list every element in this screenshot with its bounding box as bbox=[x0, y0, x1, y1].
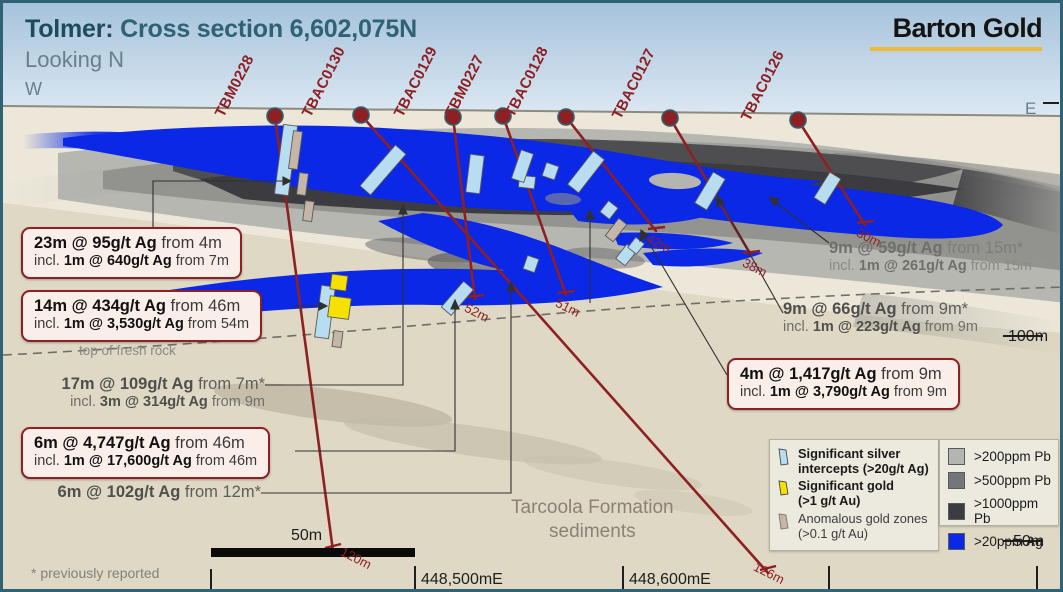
legend-swatch-1000ppm-pb: >1000ppm Pb bbox=[948, 496, 1052, 526]
hole-label-0: TBM0228 bbox=[227, 103, 294, 120]
legend-swatch-20ppm-ag: >20ppm Ag bbox=[948, 533, 1052, 550]
legend-silver-line1: Significant silver bbox=[798, 446, 900, 461]
formation-label: Tarcoola Formation sediments bbox=[511, 496, 674, 545]
top-of-fresh-rock-label: top of fresh rock bbox=[79, 343, 176, 358]
annotation-9m-66gt: 9m @ 66g/t Ag from 9m* incl. 1m @ 223g/t… bbox=[783, 300, 978, 337]
easting-label-right: 448,600mE bbox=[629, 571, 711, 589]
depth-label-120m: 120m bbox=[345, 544, 378, 559]
legend-anomalous-line2: (>0.1 g/t Au) bbox=[798, 526, 868, 541]
depth-label-42m: 42m bbox=[651, 231, 676, 246]
annotation-14m-434gt: 14m @ 434g/t Ag from 46m incl. 1m @ 3,53… bbox=[21, 290, 262, 342]
legend-symbols: Significant silver intercepts (>20g/t Ag… bbox=[769, 439, 939, 551]
annotation-9m-59gt: 9m @ 59g/t Ag from 15m* incl. 1m @ 261g/… bbox=[829, 239, 1032, 276]
annotation-4m-1417gt: 4m @ 1,417g/t Ag from 9m incl. 1m @ 3,79… bbox=[727, 358, 960, 410]
logo-underline bbox=[870, 47, 1042, 51]
legend-item-anomalous: Anomalous gold zones (>0.1 g/t Au) bbox=[777, 512, 932, 541]
legend-swatches: >200ppm Pb >500ppm Pb >1000ppm Pb >20ppm… bbox=[939, 439, 1059, 526]
hole-label-5: TBAC0127 bbox=[624, 105, 701, 122]
swatch-200ppm-pb-icon bbox=[948, 448, 965, 465]
annotation-headline: 14m @ 434g/t Ag bbox=[34, 297, 166, 315]
cross-section-figure: Tolmer: Cross section 6,602,075N Looking… bbox=[0, 0, 1063, 592]
annotation-6m-102gt: 6m @ 102g/t Ag from 12m* bbox=[23, 483, 261, 502]
hole-label-6: TBAC0126 bbox=[753, 107, 830, 124]
anomalous-gold-icon bbox=[777, 513, 794, 536]
swatch-1000ppm-pb-icon bbox=[948, 503, 965, 520]
legend-gold-line1: Significant gold bbox=[798, 478, 894, 493]
view-direction-subtitle: Looking N bbox=[25, 47, 124, 73]
legend-gold-line2: (>1 g/t Au) bbox=[798, 493, 860, 508]
scale-bar bbox=[211, 548, 415, 557]
easting-label-left: 448,500mE bbox=[421, 571, 503, 589]
company-logo: Barton Gold bbox=[893, 13, 1042, 44]
depth-label-51m: 51m bbox=[560, 295, 585, 310]
annotation-6m-4747gt: 6m @ 4,747g/t Ag from 46m incl. 1m @ 17,… bbox=[21, 427, 270, 479]
annotation-headline: 23m @ 95g/t Ag bbox=[34, 234, 157, 252]
elevation-100m-label: 100m bbox=[1008, 328, 1048, 346]
title-rest: Cross section 6,602,075N bbox=[113, 15, 417, 43]
hole-label-1: TBAC0130 bbox=[314, 103, 391, 120]
legend-swatch-500ppm-pb: >500ppm Pb bbox=[948, 472, 1052, 489]
depth-label-30m: 30m bbox=[861, 225, 886, 240]
legend-anomalous-line1: Anomalous gold zones bbox=[798, 511, 927, 526]
silver-intercept-icon bbox=[777, 448, 794, 471]
page-title: Tolmer: Cross section 6,602,075N bbox=[25, 15, 417, 44]
scale-bar-label: 50m bbox=[291, 527, 322, 545]
depth-label-126m: 126m bbox=[758, 559, 791, 574]
title-brand: Tolmer: bbox=[25, 15, 113, 43]
swatch-20ppm-ag-icon bbox=[948, 533, 965, 550]
footnote: * previously reported bbox=[31, 565, 159, 581]
annotation-17m-109gt: 17m @ 109g/t Ag from 7m* incl. 3m @ 314g… bbox=[23, 375, 265, 412]
annotation-23m-95gt: 23m @ 95g/t Ag from 4m incl. 1m @ 640g/t… bbox=[21, 227, 242, 279]
swatch-500ppm-pb-icon bbox=[948, 472, 965, 489]
hole-label-4: TBAC0128 bbox=[517, 103, 594, 120]
depth-label-52m: 52m bbox=[469, 300, 494, 315]
legend-swatch-200ppm-pb: >200ppm Pb bbox=[948, 448, 1052, 465]
west-label: W bbox=[25, 79, 42, 100]
east-label: E bbox=[1025, 99, 1036, 119]
depth-label-38m: 38m bbox=[747, 255, 772, 270]
legend-item-silver: Significant silver intercepts (>20g/t Ag… bbox=[777, 447, 932, 476]
legend-silver-line2: intercepts (>20g/t Ag) bbox=[798, 461, 929, 476]
gold-intercept-icon bbox=[777, 480, 794, 503]
legend-item-gold: Significant gold (>1 g/t Au) bbox=[777, 479, 932, 508]
